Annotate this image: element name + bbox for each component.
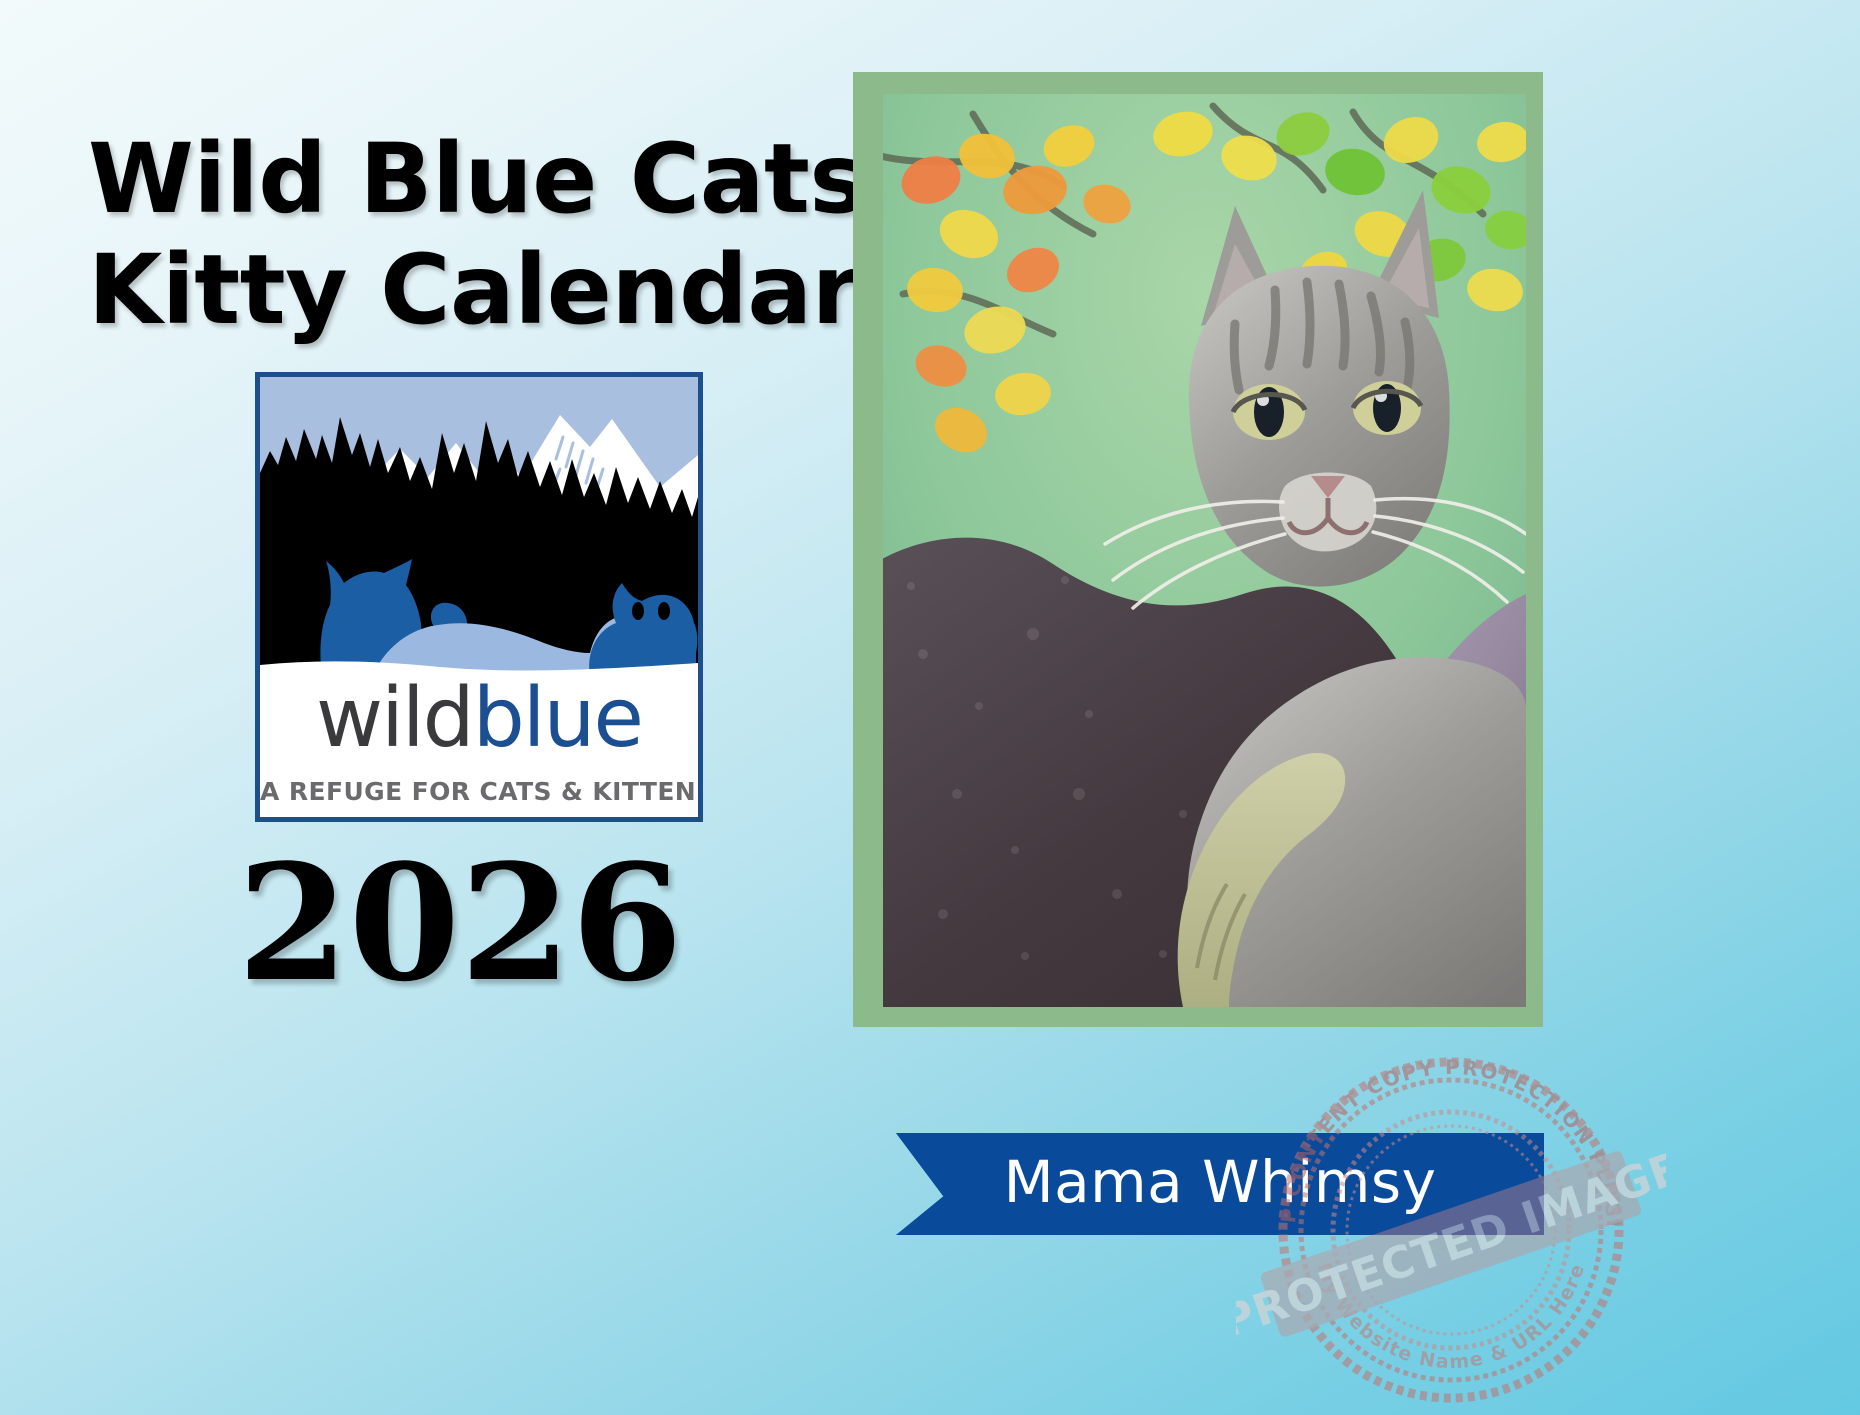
logo-scene-illustration [260,377,698,677]
page-title-line-1: Wild Blue Cats! [88,127,909,231]
logo-tagline: A REFUGE FOR CATS & KITTENS [260,777,698,806]
wildblue-logo: wildblue A REFUGE FOR CATS & KITTENS [255,372,703,822]
calendar-cover: Wild Blue Cats! Kitty Calendar [0,0,1860,1415]
photo-frame [853,72,1543,1027]
left-column: Wild Blue Cats! Kitty Calendar [0,0,850,1415]
svg-text:My Website Name & URL Here: My Website Name & URL Here [1313,1260,1590,1373]
watermark-bottom-text: My Website Name & URL Here [1313,1260,1590,1373]
caption-ribbon: Mama Whimsy [896,1133,1544,1235]
calendar-year: 2026 [0,838,920,1008]
logo-wordmark-wild: wild [316,671,473,766]
logo-wordmark: wildblue [260,673,698,765]
cat-photo [883,94,1526,1007]
logo-wordmark-blue: blue [473,671,642,766]
caption-text: Mama Whimsy [896,1149,1544,1215]
page-title-line-2: Kitty Calendar [88,238,859,342]
